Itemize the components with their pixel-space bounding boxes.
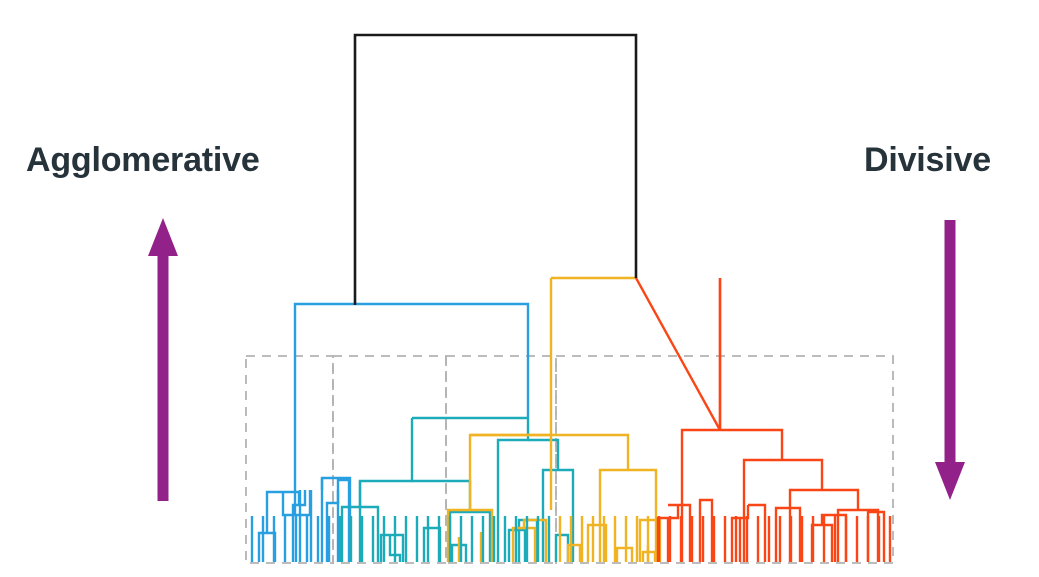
- branch-teal-detail-2: [424, 528, 440, 562]
- branch-red-detail-5: [748, 505, 765, 562]
- branch-red-0: [636, 278, 720, 430]
- branch-blue-3: [259, 533, 275, 562]
- dendrogram-canvas: [0, 0, 1039, 577]
- divisive-arrow: [935, 220, 965, 500]
- branch-teal-8: [528, 440, 558, 470]
- dendrogram-figure: Agglomerative Divisive: [0, 0, 1039, 577]
- dendrogram-root-layer: [355, 35, 636, 305]
- branch-red-3: [720, 430, 782, 460]
- branch-red-8: [838, 510, 858, 562]
- branch-gold-5: [551, 435, 628, 470]
- branch-gold-detail-3: [617, 548, 632, 562]
- agglomerative-arrow: [148, 218, 178, 501]
- branch-red-5: [782, 460, 822, 490]
- cluster-box-3: [446, 356, 556, 563]
- branch-red-detail-10: [868, 512, 884, 562]
- branch-teal-2: [412, 481, 470, 512]
- branch-red-detail-8: [812, 525, 832, 562]
- branch-blue-0: [295, 304, 528, 515]
- branch-teal-detail-5: [556, 535, 568, 562]
- branch-red-7: [822, 490, 858, 510]
- branch-gold-4: [470, 435, 551, 510]
- root-crossbar: [355, 35, 636, 305]
- dendrogram-leaves-layer: [252, 516, 890, 562]
